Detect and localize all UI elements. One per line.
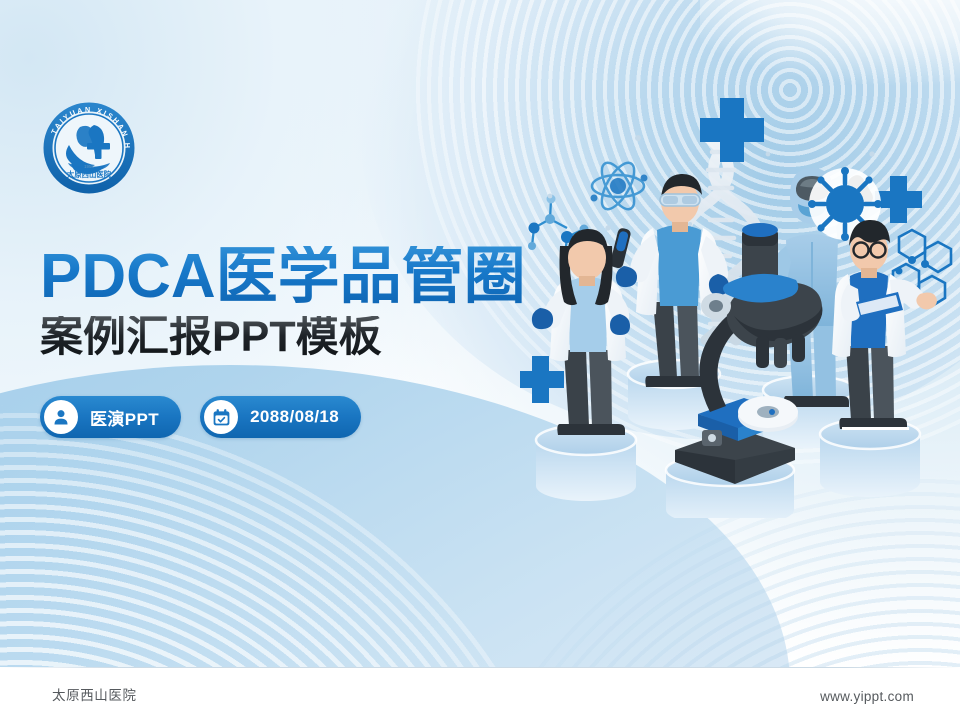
hospital-logo: TAIYUAN XISHAN HOSPITAL 太原西山医院 1956 <box>42 101 136 195</box>
page-subtitle: 案例汇报PPT模板 <box>40 316 382 359</box>
calendar-icon <box>204 400 238 434</box>
author-badge[interactable]: 医演PPT <box>40 396 181 438</box>
footer-band <box>0 667 960 720</box>
atom-icon <box>591 158 648 214</box>
pedestal-scientist-1 <box>536 425 636 501</box>
date-badge[interactable]: 2088/08/18 <box>200 396 361 438</box>
goggles-icon <box>660 194 700 206</box>
pedestal-scientist-4 <box>820 419 920 497</box>
presentation-slide: TAIYUAN XISHAN HOSPITAL 太原西山医院 1956 PDCA… <box>0 0 960 720</box>
meta-badge-row: 医演PPT 2088/08/18 <box>40 396 361 438</box>
cross-icon-medium <box>875 176 922 223</box>
footer-organization: 太原西山医院 <box>52 684 137 704</box>
cross-icon-large <box>700 98 764 162</box>
logo-bottom-text: 太原西山医院 <box>66 170 112 179</box>
cross-icon-small <box>520 356 564 403</box>
user-icon <box>44 400 78 434</box>
footer-website[interactable]: www.yippt.com <box>820 689 914 704</box>
author-badge-label: 医演PPT <box>90 405 159 430</box>
medical-lab-illustration <box>520 78 960 518</box>
logo-year-text: 1956 <box>84 164 94 169</box>
test-vial-icon <box>609 227 631 269</box>
date-badge-label: 2088/08/18 <box>250 407 339 427</box>
page-title: PDCA医学品管圈 <box>40 246 526 308</box>
